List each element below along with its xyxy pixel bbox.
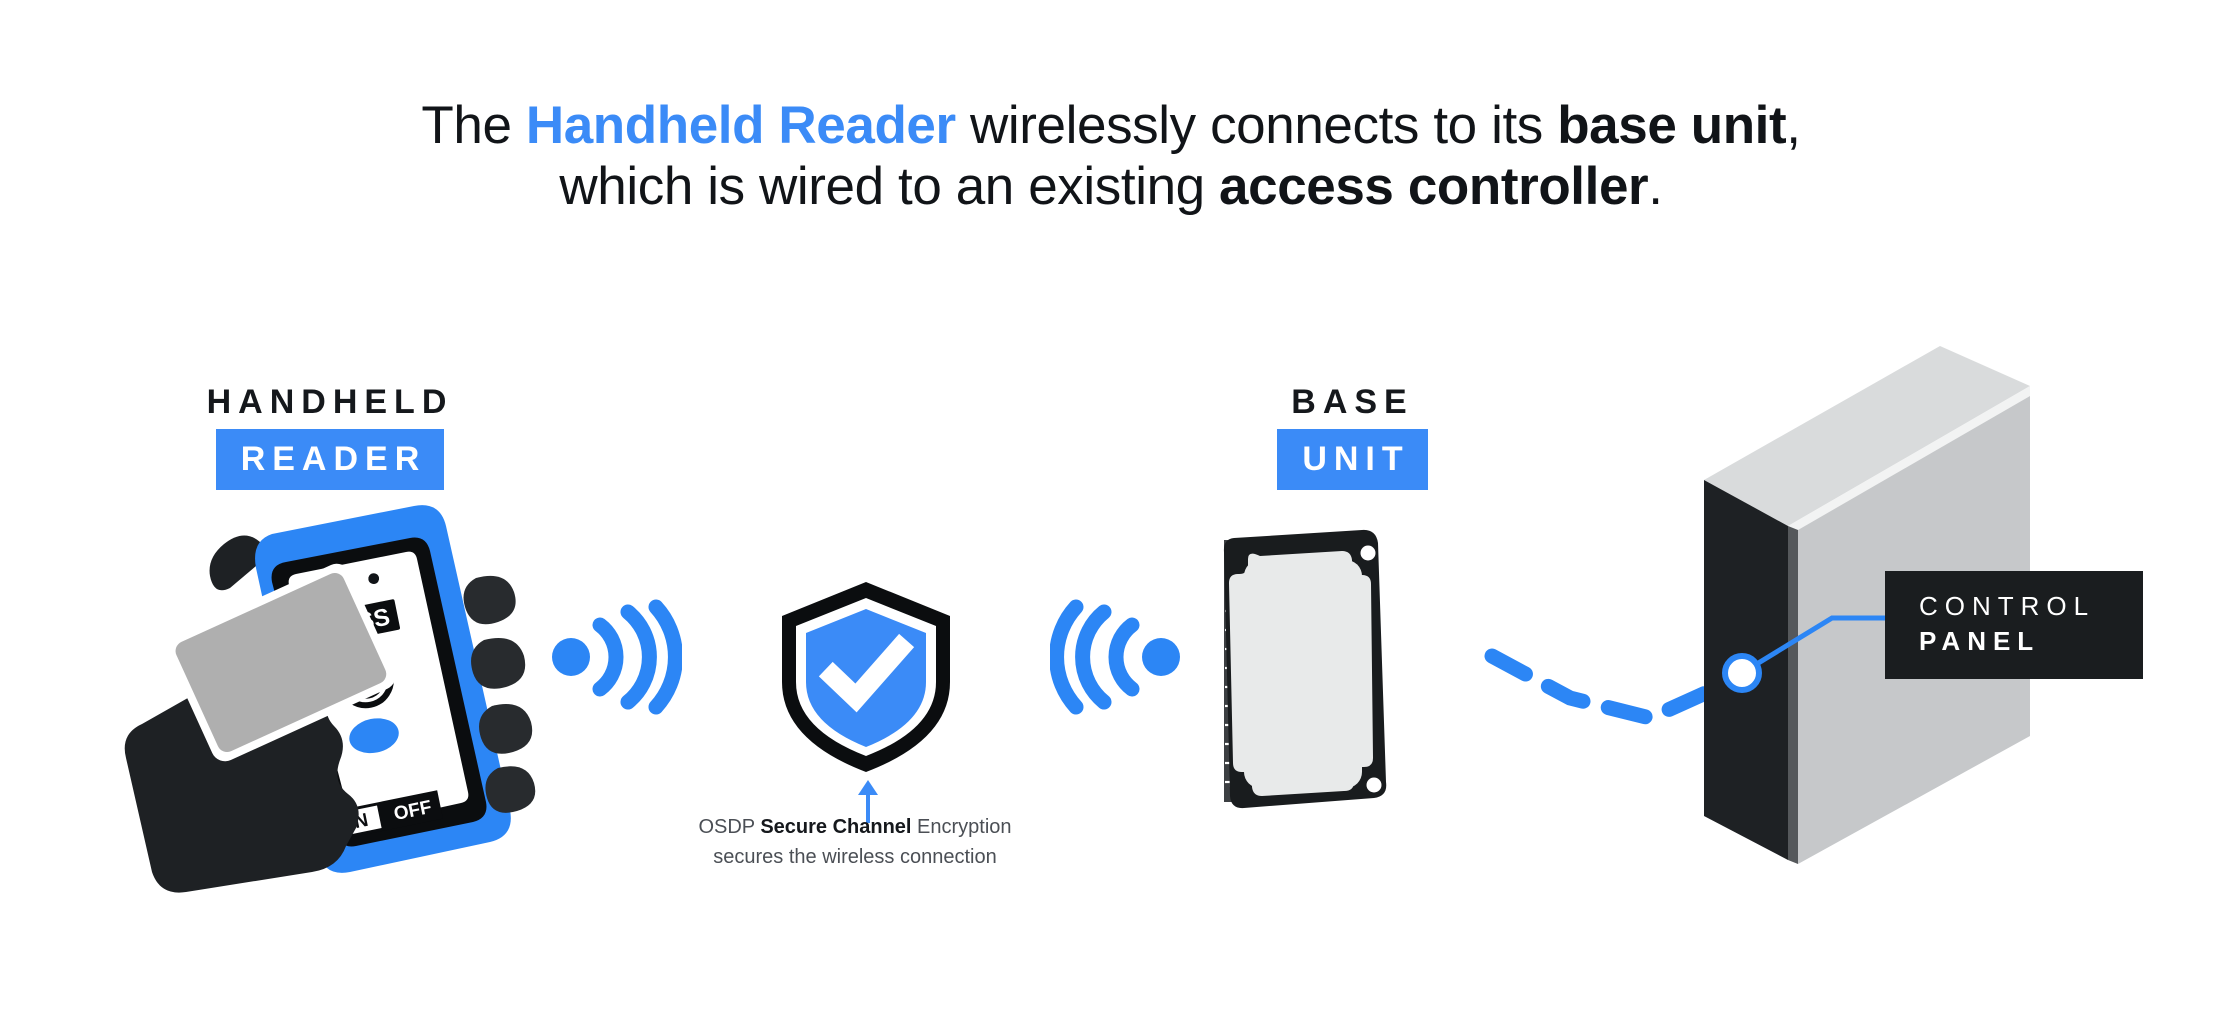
wireless-waves-left: [552, 598, 682, 716]
label-control-panel: CONTROL PANEL: [1885, 571, 2143, 679]
callout-anchor-dot: [1725, 656, 1759, 690]
wave-origin-dot: [1142, 638, 1180, 676]
mounting-hole-top: [1361, 546, 1376, 561]
label-handheld-top: HANDHELD: [180, 385, 480, 419]
wireless-waves-right: [1050, 598, 1180, 716]
base-unit-illustration: [1222, 520, 1402, 820]
headline-text-4: which is wired to an existing: [559, 157, 1219, 216]
headline-bold-base-unit: base unit: [1557, 96, 1786, 155]
osdp-caption-line-1: OSDP Secure Channel Encryption: [615, 812, 1095, 842]
headline-accent-handheld-reader: Handheld Reader: [526, 96, 956, 155]
headline-text-1: The: [421, 96, 525, 155]
secure-channel-shield-icon: [778, 578, 954, 774]
headline-line-2: which is wired to an existing access con…: [0, 156, 2222, 217]
diagram-canvas: The Handheld Reader wirelessly connects …: [0, 0, 2222, 1011]
label-base-unit: BASE UNIT: [1235, 385, 1470, 490]
headline-text-3: ,: [1786, 96, 1800, 155]
wave-origin-dot: [552, 638, 590, 676]
osdp-caption-text-1: OSDP: [698, 816, 760, 838]
label-handheld-reader: HANDHELD READER: [180, 385, 480, 490]
headline-text-5: .: [1648, 157, 1662, 216]
label-base-top: BASE: [1235, 385, 1470, 419]
label-base-bottom: UNIT: [1277, 429, 1427, 490]
label-control-line-2: PANEL: [1919, 624, 2109, 659]
osdp-caption: OSDP Secure Channel Encryption secures t…: [615, 812, 1095, 872]
label-handheld-bottom: READER: [216, 429, 445, 490]
osdp-caption-bold: Secure Channel: [760, 816, 911, 838]
wave-arcs: [1057, 607, 1132, 707]
handheld-reader-illustration: ESS ON OFF: [120, 500, 540, 900]
wave-arcs: [600, 607, 675, 707]
cabinet-edge-strip: [1788, 526, 1798, 864]
page-title: The Handheld Reader wirelessly connects …: [0, 95, 2222, 218]
label-control-line-1: CONTROL: [1919, 589, 2109, 624]
headline-line-1: The Handheld Reader wirelessly connects …: [0, 95, 2222, 156]
headline-text-2: wirelessly connects to its: [956, 96, 1557, 155]
mounting-hole-bottom: [1367, 778, 1382, 793]
osdp-caption-text-2: Encryption: [911, 816, 1011, 838]
osdp-caption-line-2: secures the wireless connection: [615, 842, 1095, 872]
headline-bold-access-controller: access controller: [1219, 157, 1648, 216]
